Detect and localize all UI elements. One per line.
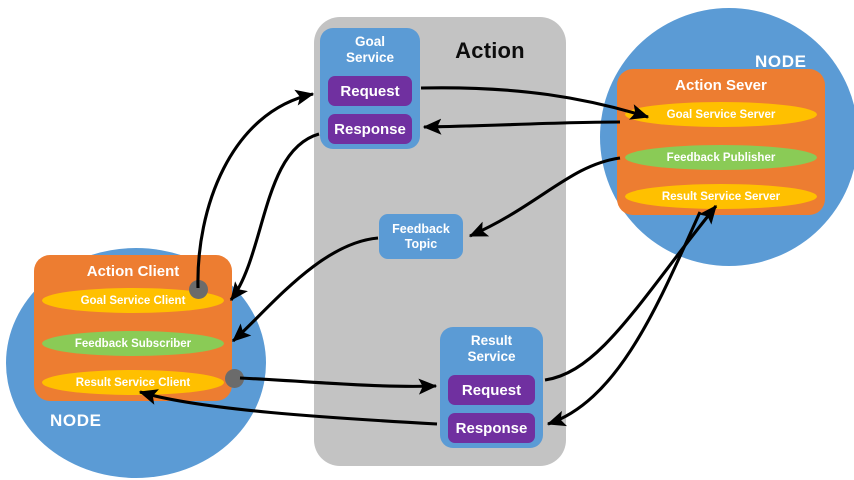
connector-dot-result-client [225, 369, 244, 388]
action-client-title: Action Client [34, 263, 232, 280]
node-server-label: NODE [755, 52, 807, 72]
action-server-title: Action Sever [617, 77, 825, 94]
pill-feedback-publisher[interactable]: Feedback Publisher [625, 145, 817, 170]
pill-feedback-subscriber[interactable]: Feedback Subscriber [42, 331, 224, 356]
result-service-request[interactable]: Request [448, 375, 535, 405]
pill-result-service-server[interactable]: Result Service Server [625, 184, 817, 209]
goal-service-title: Goal Service [320, 34, 420, 66]
arrow-goal-response-to-goal-client [231, 134, 319, 300]
diagram-canvas: Action NODE Action Sever Goal Service Se… [0, 0, 854, 480]
node-client-label: NODE [50, 411, 102, 431]
pill-result-service-client[interactable]: Result Service Client [42, 370, 224, 395]
feedback-topic-title-line1: Feedback [392, 222, 450, 237]
goal-service-request[interactable]: Request [328, 76, 412, 106]
action-server-box: Action Sever Goal Service Server Feedbac… [617, 69, 825, 215]
feedback-topic-box[interactable]: Feedback Topic [379, 214, 463, 259]
result-service-title-line1: Result [440, 333, 543, 349]
pill-goal-service-server[interactable]: Goal Service Server [625, 102, 817, 127]
result-service-response[interactable]: Response [448, 413, 535, 443]
result-service-title-line2: Service [440, 349, 543, 365]
result-service-title: Result Service [440, 333, 543, 365]
connector-dot-goal-client [189, 280, 208, 299]
feedback-topic-title-line2: Topic [405, 237, 437, 252]
goal-service-title-line2: Service [320, 50, 420, 66]
action-client-box: Action Client Goal Service Client Feedba… [34, 255, 232, 401]
action-container-label: Action [430, 38, 550, 64]
result-service-box: Result Service Request Response [440, 327, 543, 448]
goal-service-box: Goal Service Request Response [320, 28, 420, 149]
goal-service-title-line1: Goal [320, 34, 420, 50]
goal-service-response[interactable]: Response [328, 114, 412, 144]
